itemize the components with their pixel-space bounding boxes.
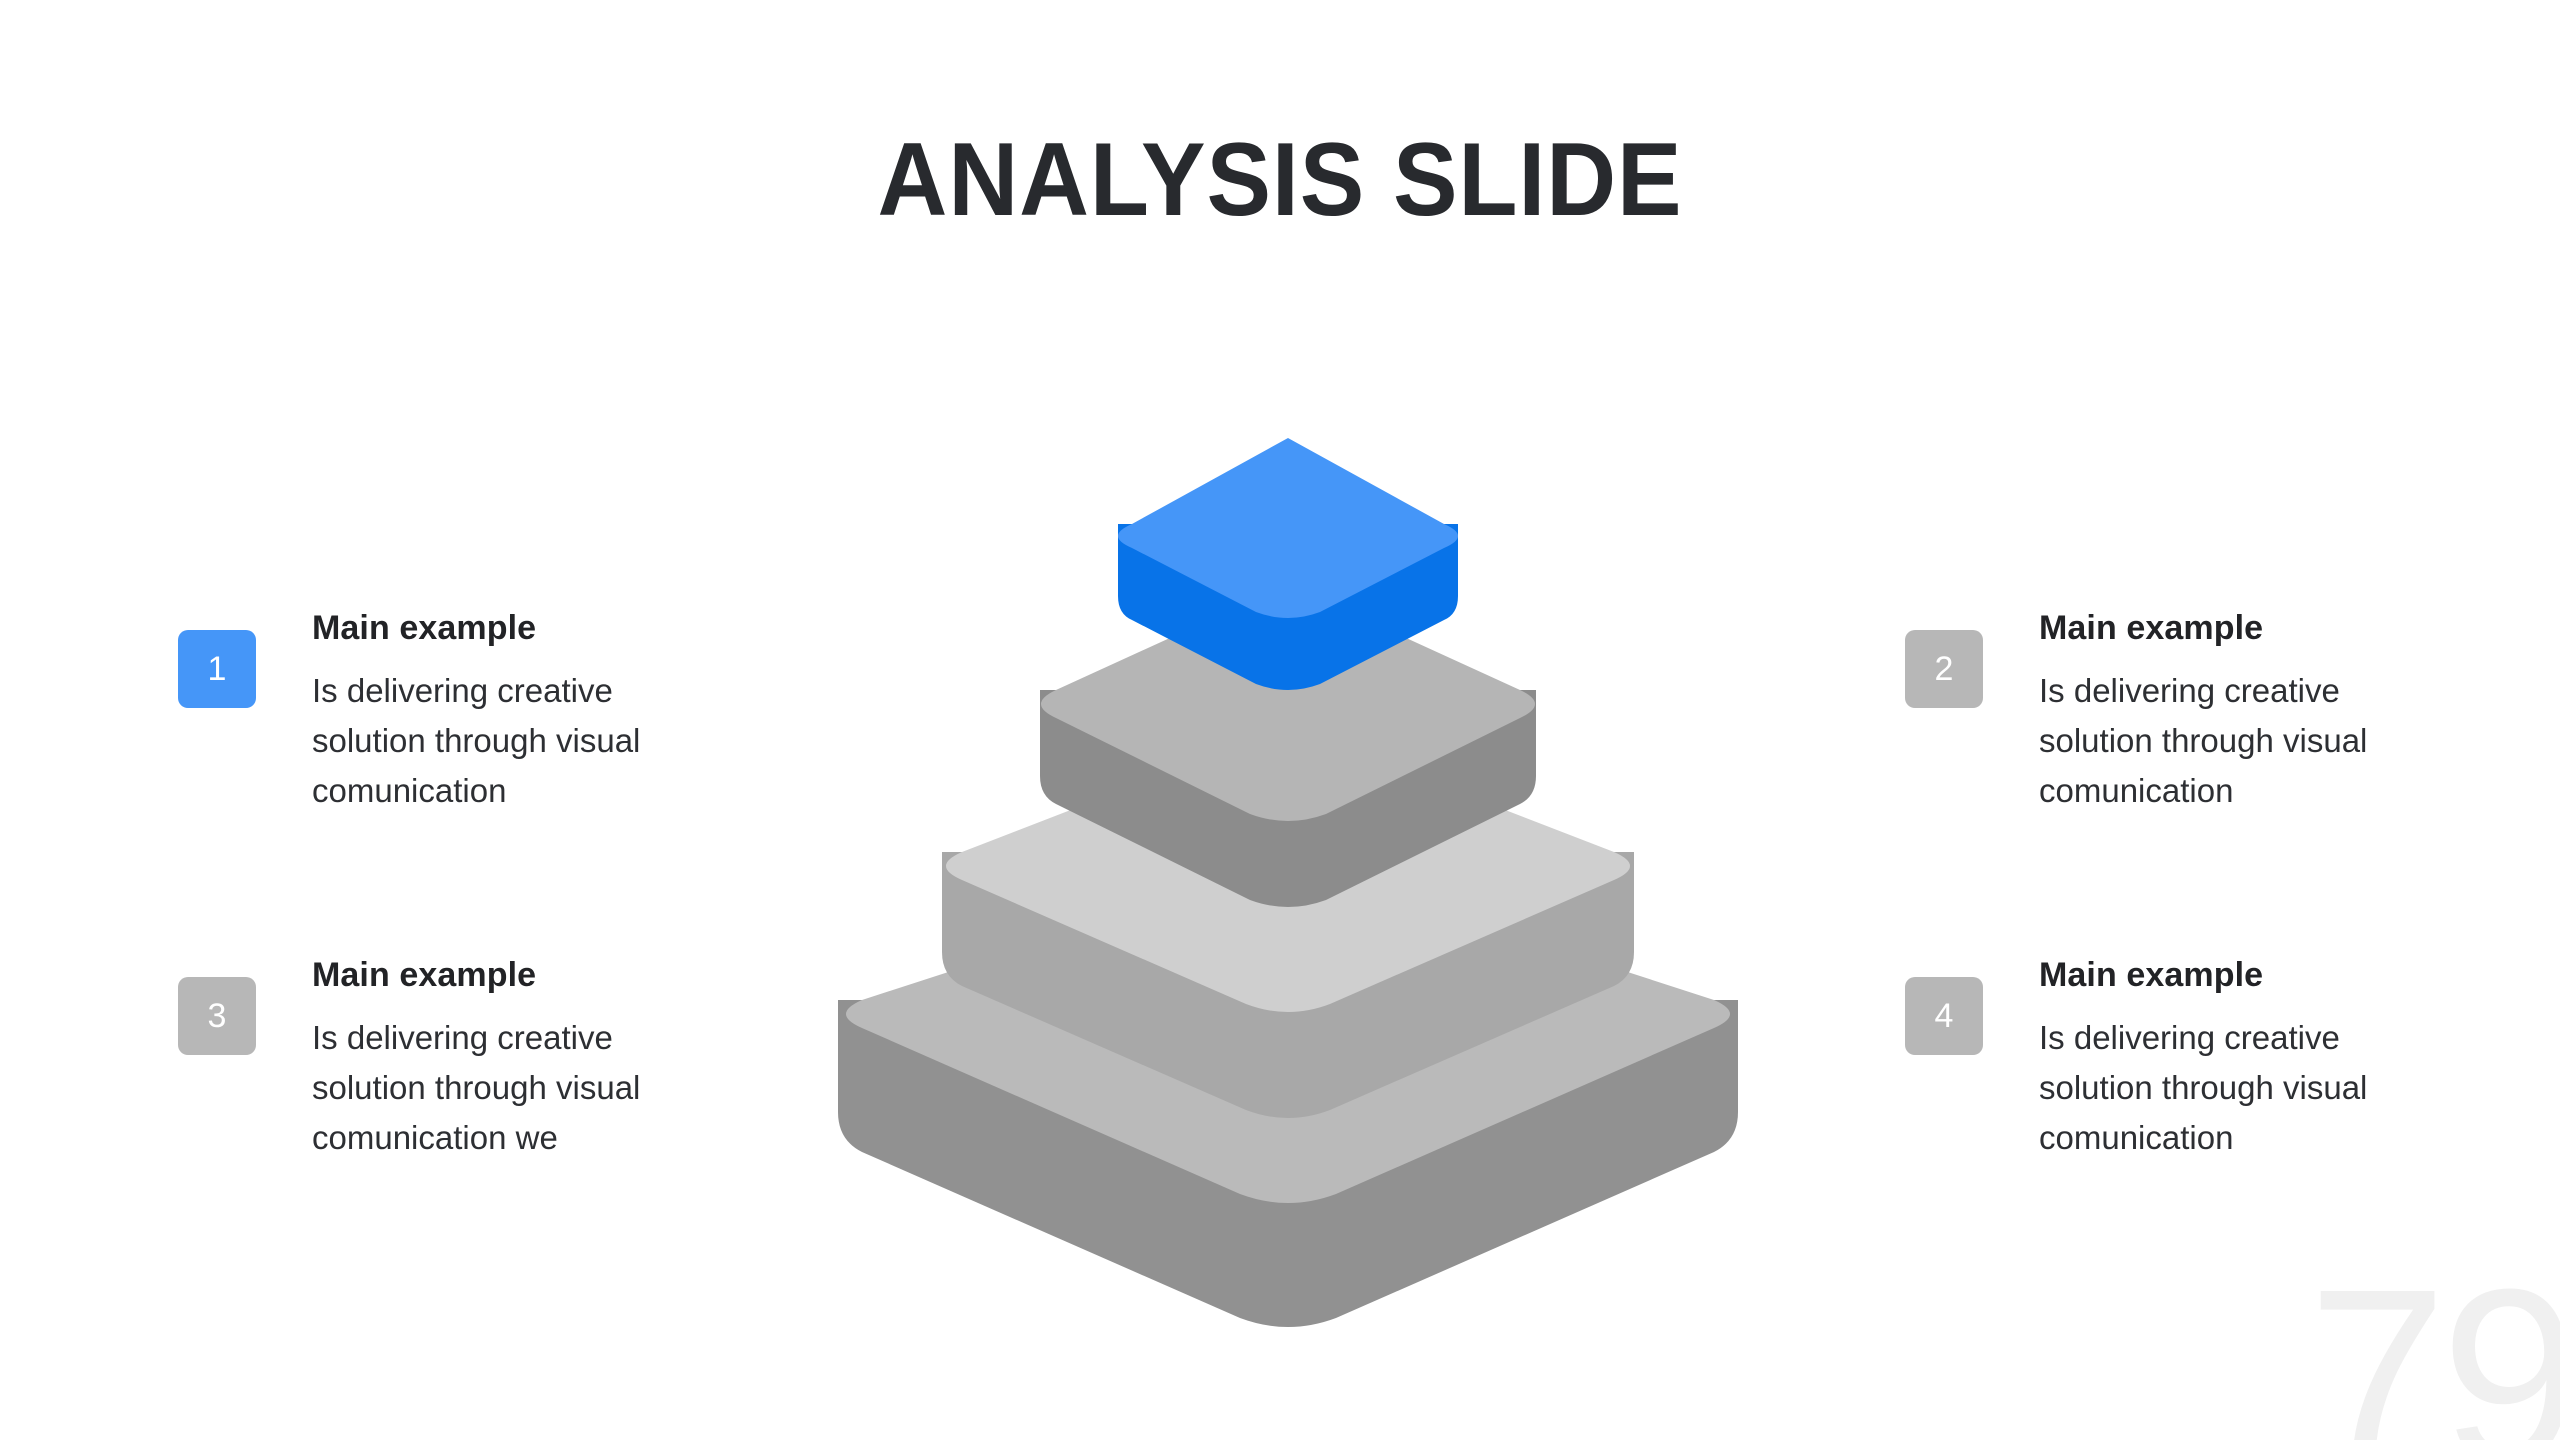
slab-4 [838, 862, 1738, 1327]
slide-canvas: ANALYSIS SLIDE [0, 0, 2560, 1440]
page-number-watermark: 79 [2308, 1252, 2560, 1440]
item-4-body: Is delivering creative solution through … [2039, 1013, 2384, 1163]
item-2-body: Is delivering creative solution through … [2039, 666, 2384, 816]
slab-1-side [1118, 524, 1458, 690]
list-item-4[interactable]: 4 Main example Is delivering creative so… [1905, 955, 2385, 1163]
item-2-number-badge: 2 [1905, 630, 1983, 708]
list-item-1[interactable]: 1 Main example Is delivering creative so… [178, 608, 658, 816]
item-3-number-badge: 3 [178, 977, 256, 1055]
item-1-text: Main example Is delivering creative solu… [312, 608, 657, 816]
item-1-body: Is delivering creative solution through … [312, 666, 657, 816]
slab-1 [1118, 438, 1458, 690]
page-title: ANALYSIS SLIDE [90, 128, 2471, 232]
item-3-heading: Main example [312, 955, 657, 995]
slab-2-top [1041, 584, 1535, 821]
slab-3-side [942, 852, 1634, 1118]
slab-2 [1040, 584, 1536, 907]
item-3-text: Main example Is delivering creative solu… [312, 955, 657, 1163]
slab-2-side [1040, 690, 1536, 907]
item-4-number-badge: 4 [1905, 977, 1983, 1055]
list-item-2[interactable]: 2 Main example Is delivering creative so… [1905, 608, 2385, 816]
item-4-heading: Main example [2039, 955, 2384, 995]
item-1-heading: Main example [312, 608, 657, 648]
item-2-text: Main example Is delivering creative solu… [2039, 608, 2384, 816]
item-2-heading: Main example [2039, 608, 2384, 648]
item-1-number-badge: 1 [178, 630, 256, 708]
item-4-text: Main example Is delivering creative solu… [2039, 955, 2384, 1163]
slab-4-side [838, 1000, 1738, 1327]
slab-3 [942, 726, 1634, 1118]
item-3-body: Is delivering creative solution through … [312, 1013, 657, 1163]
slab-1-top [1118, 438, 1458, 618]
slab-4-top [846, 862, 1730, 1203]
slab-3-top [946, 726, 1630, 1012]
list-item-3[interactable]: 3 Main example Is delivering creative so… [178, 955, 658, 1163]
